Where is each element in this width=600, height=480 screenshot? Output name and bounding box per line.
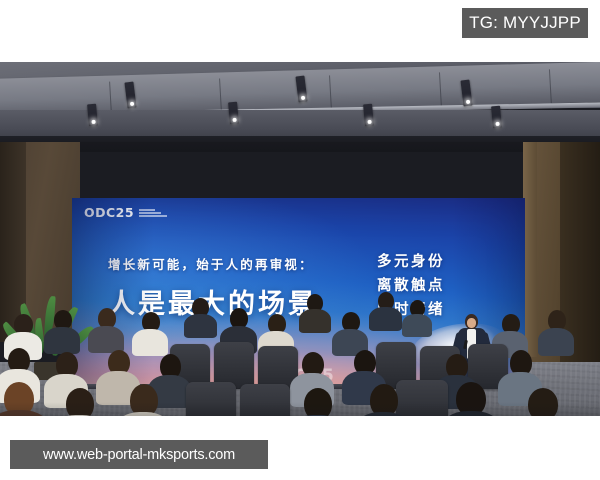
- ceiling-spotlight-icon: [228, 102, 239, 125]
- slide-keyword: 多元身份: [377, 250, 445, 274]
- telegram-watermark-badge: TG: MYYJJPP: [462, 8, 588, 38]
- conference-photo: ODC25 增长新可能，始于人的再审视： 人是最大的场景 多元身份 离散触点 即…: [0, 62, 600, 416]
- ceiling-shadow: [0, 136, 600, 152]
- ceiling-spotlight-icon: [363, 104, 374, 127]
- odc25-logo: ODC25: [84, 205, 167, 220]
- odc25-logo-subtext: [139, 209, 167, 217]
- ceiling-spotlight-icon: [87, 104, 98, 127]
- site-url-watermark: www.web-portal-mksports.com: [10, 440, 268, 469]
- slide-subtitle: 增长新可能，始于人的再审视：: [108, 254, 378, 273]
- odc25-logo-text: ODC25: [84, 205, 134, 220]
- right-wall-pillar: [523, 142, 537, 357]
- ceiling-spotlight-icon: [491, 106, 502, 129]
- photo-bottom-fade: [0, 402, 600, 416]
